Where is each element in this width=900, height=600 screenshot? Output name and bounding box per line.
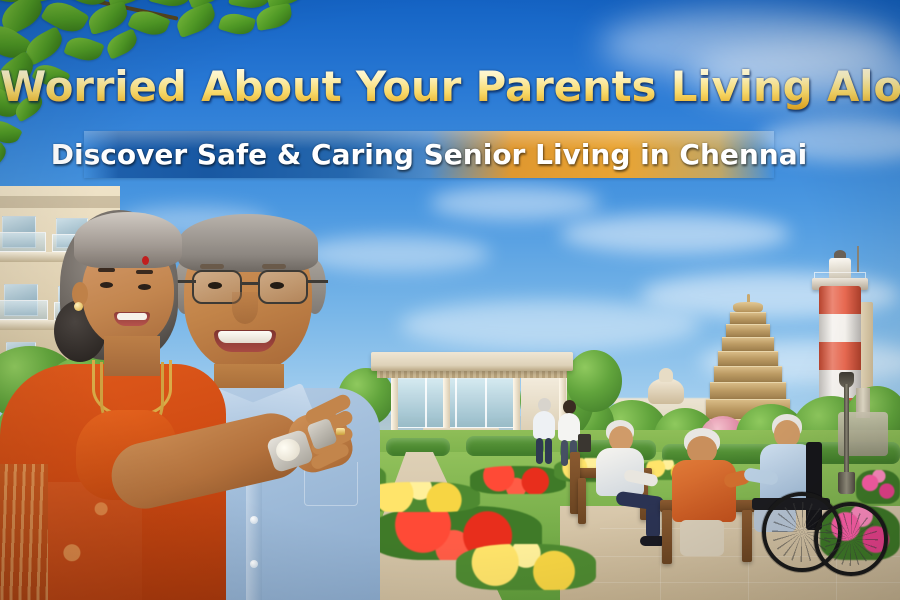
woman-saree-pallu <box>0 464 48 600</box>
chair-leg <box>662 510 672 564</box>
chair-leg <box>742 510 752 562</box>
woman-eyebrow <box>136 270 153 274</box>
woman-eyebrow <box>98 268 115 272</box>
woman-bindi <box>142 256 149 265</box>
cloud <box>400 300 700 350</box>
wheelchair-wheel <box>814 502 888 576</box>
flowerbed-yellow <box>456 544 596 590</box>
man-eyebrow <box>262 264 286 269</box>
flowerbed-pink <box>856 470 900 504</box>
bench-leg <box>578 478 586 524</box>
woman-eye <box>138 284 151 290</box>
shirt-button <box>250 560 258 568</box>
promotional-banner: Worried About Your Parents Living Alone?… <box>0 0 900 600</box>
page-title: Worried About Your Parents Living Alone? <box>0 62 900 111</box>
woman-eye <box>100 282 113 288</box>
woman-earring <box>74 302 83 311</box>
path-seam <box>566 582 900 583</box>
eyeglasses-temple <box>306 280 328 283</box>
eyeglasses-bridge <box>242 282 258 285</box>
palace-dome-small <box>659 368 673 382</box>
man-teeth <box>218 331 272 343</box>
elderly-indian-couple <box>18 196 370 600</box>
woman-hair-front <box>74 212 182 268</box>
man-eye <box>270 282 284 289</box>
woman-teeth <box>117 313 147 320</box>
cloud <box>430 186 600 220</box>
cloud <box>560 214 790 254</box>
hedge <box>466 436 544 456</box>
finger-ring <box>336 428 345 435</box>
man-nose <box>232 292 258 324</box>
shirt-button <box>250 516 258 524</box>
subtitle-text: Discover Safe & Caring Senior Living in … <box>84 131 774 178</box>
man-eyebrow <box>200 264 224 269</box>
path-seam <box>660 506 661 600</box>
flowerbed-red <box>470 466 566 494</box>
man-eye <box>208 282 222 289</box>
lamp-post <box>838 372 856 496</box>
man-hair <box>178 214 318 272</box>
